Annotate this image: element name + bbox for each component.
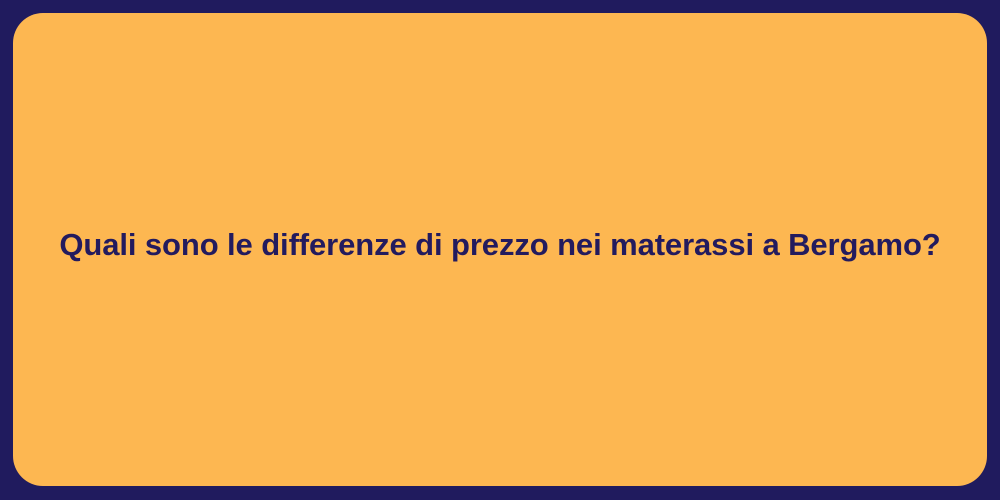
page-title: Quali sono le differenze di prezzo nei m… bbox=[31, 225, 969, 265]
question-card-panel: Quali sono le differenze di prezzo nei m… bbox=[13, 13, 987, 486]
question-card-frame: Quali sono le differenze di prezzo nei m… bbox=[0, 0, 1000, 500]
headline-block: Quali sono le differenze di prezzo nei m… bbox=[13, 225, 987, 265]
